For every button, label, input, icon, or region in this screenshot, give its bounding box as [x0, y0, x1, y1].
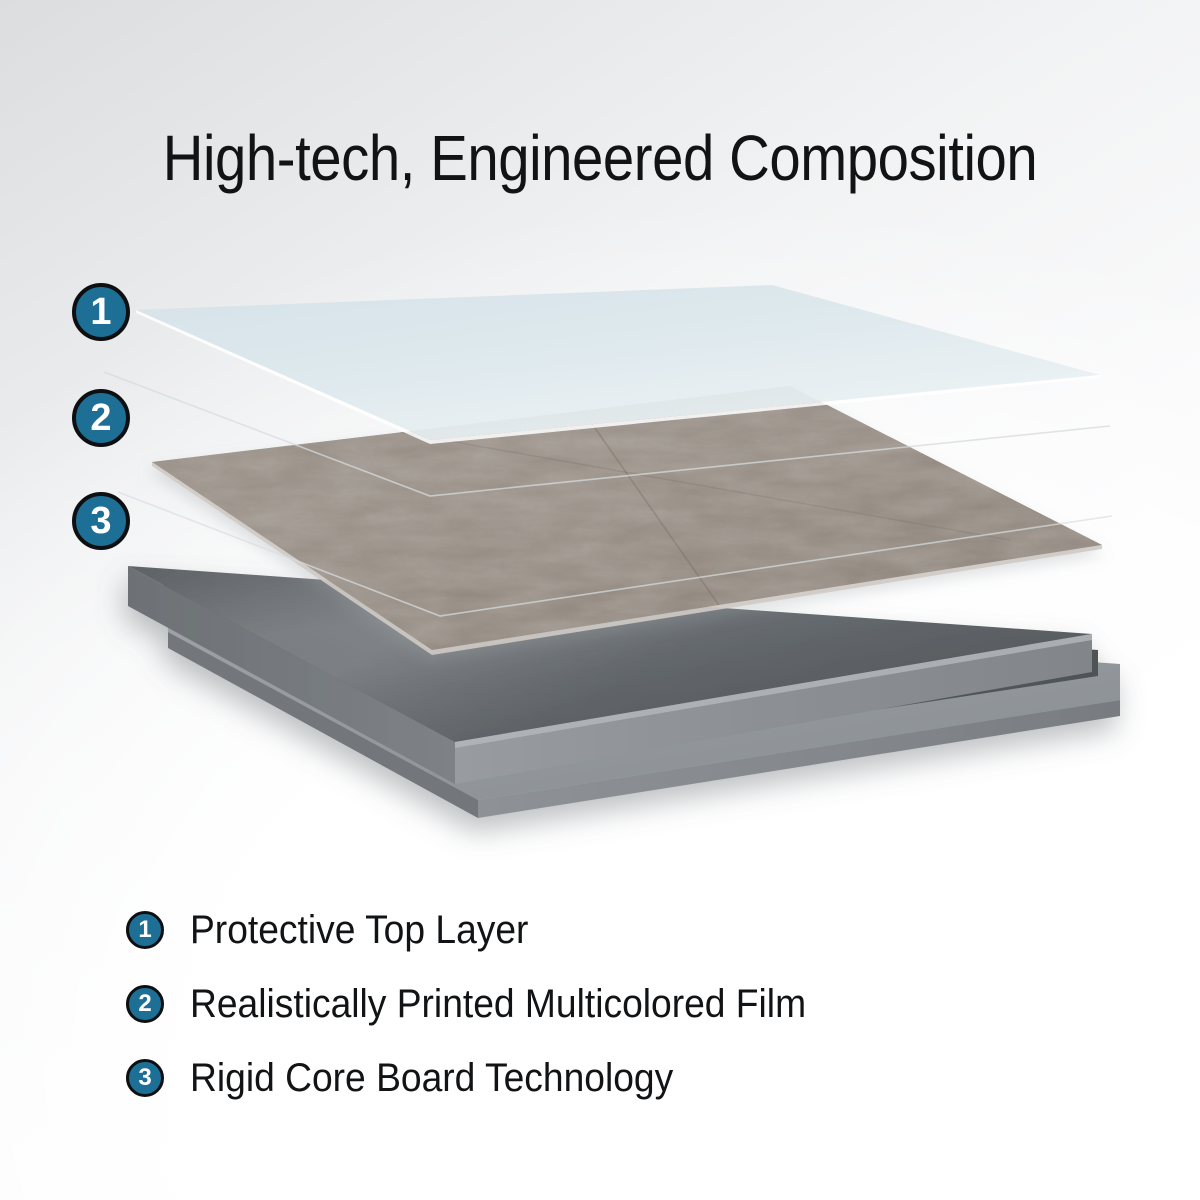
legend-label-3: Rigid Core Board Technology: [190, 1056, 673, 1101]
film-seam: [560, 378, 760, 664]
legend: 1 Protective Top Layer 2 Realistically P…: [126, 893, 1086, 1115]
legend-item-2[interactable]: 2 Realistically Printed Multicolored Fil…: [126, 967, 1086, 1041]
film-ghost-outline: [118, 492, 1112, 616]
layer-2-printed-film: [140, 378, 1120, 664]
page-title: High-tech, Engineered Composition: [72, 121, 1128, 195]
callout-badge-2[interactable]: 2: [72, 389, 130, 447]
legend-item-3[interactable]: 3 Rigid Core Board Technology: [126, 1041, 1086, 1115]
film-base: [152, 386, 1102, 650]
film-tone-overlay: [152, 386, 1102, 650]
film-edge: [152, 462, 1102, 655]
core-slab-left-edge: [128, 566, 455, 784]
core-slab-arris-highlight: [455, 634, 1092, 748]
core-lip-top-face: [168, 596, 1120, 800]
core-slab-front-edge: [455, 634, 1092, 784]
layer-3-rigid-core-board: [128, 566, 1120, 818]
callout-badge-3[interactable]: 3: [72, 492, 130, 550]
core-lip-left-edge: [168, 632, 478, 818]
core-groove: [150, 584, 1098, 774]
film-concrete-streaks: [140, 378, 1120, 664]
legend-badge-3: 3: [126, 1059, 164, 1097]
top-layer-sheet: [136, 285, 1100, 440]
core-lip-front-edge: [478, 700, 1120, 818]
legend-badge-2: 2: [126, 985, 164, 1023]
top-layer-ghost-outline: [104, 372, 1110, 496]
top-layer-edge: [136, 310, 1100, 444]
core-slab-top-sheen: [128, 566, 1092, 742]
film-seam: [330, 420, 1010, 540]
core-slab-top-face: [128, 566, 1092, 742]
legend-label-2: Realistically Printed Multicolored Film: [190, 982, 806, 1027]
legend-label-1: Protective Top Layer: [190, 908, 528, 953]
callout-badge-1[interactable]: 1: [72, 283, 130, 341]
layer-1-protective-top-layer: [104, 285, 1112, 616]
film-concrete-texture: [140, 378, 1120, 664]
legend-item-1[interactable]: 1 Protective Top Layer: [126, 893, 1086, 967]
composition-diagram-page: High-tech, Engineered Composition: [0, 0, 1200, 1200]
legend-badge-1: 1: [126, 911, 164, 949]
